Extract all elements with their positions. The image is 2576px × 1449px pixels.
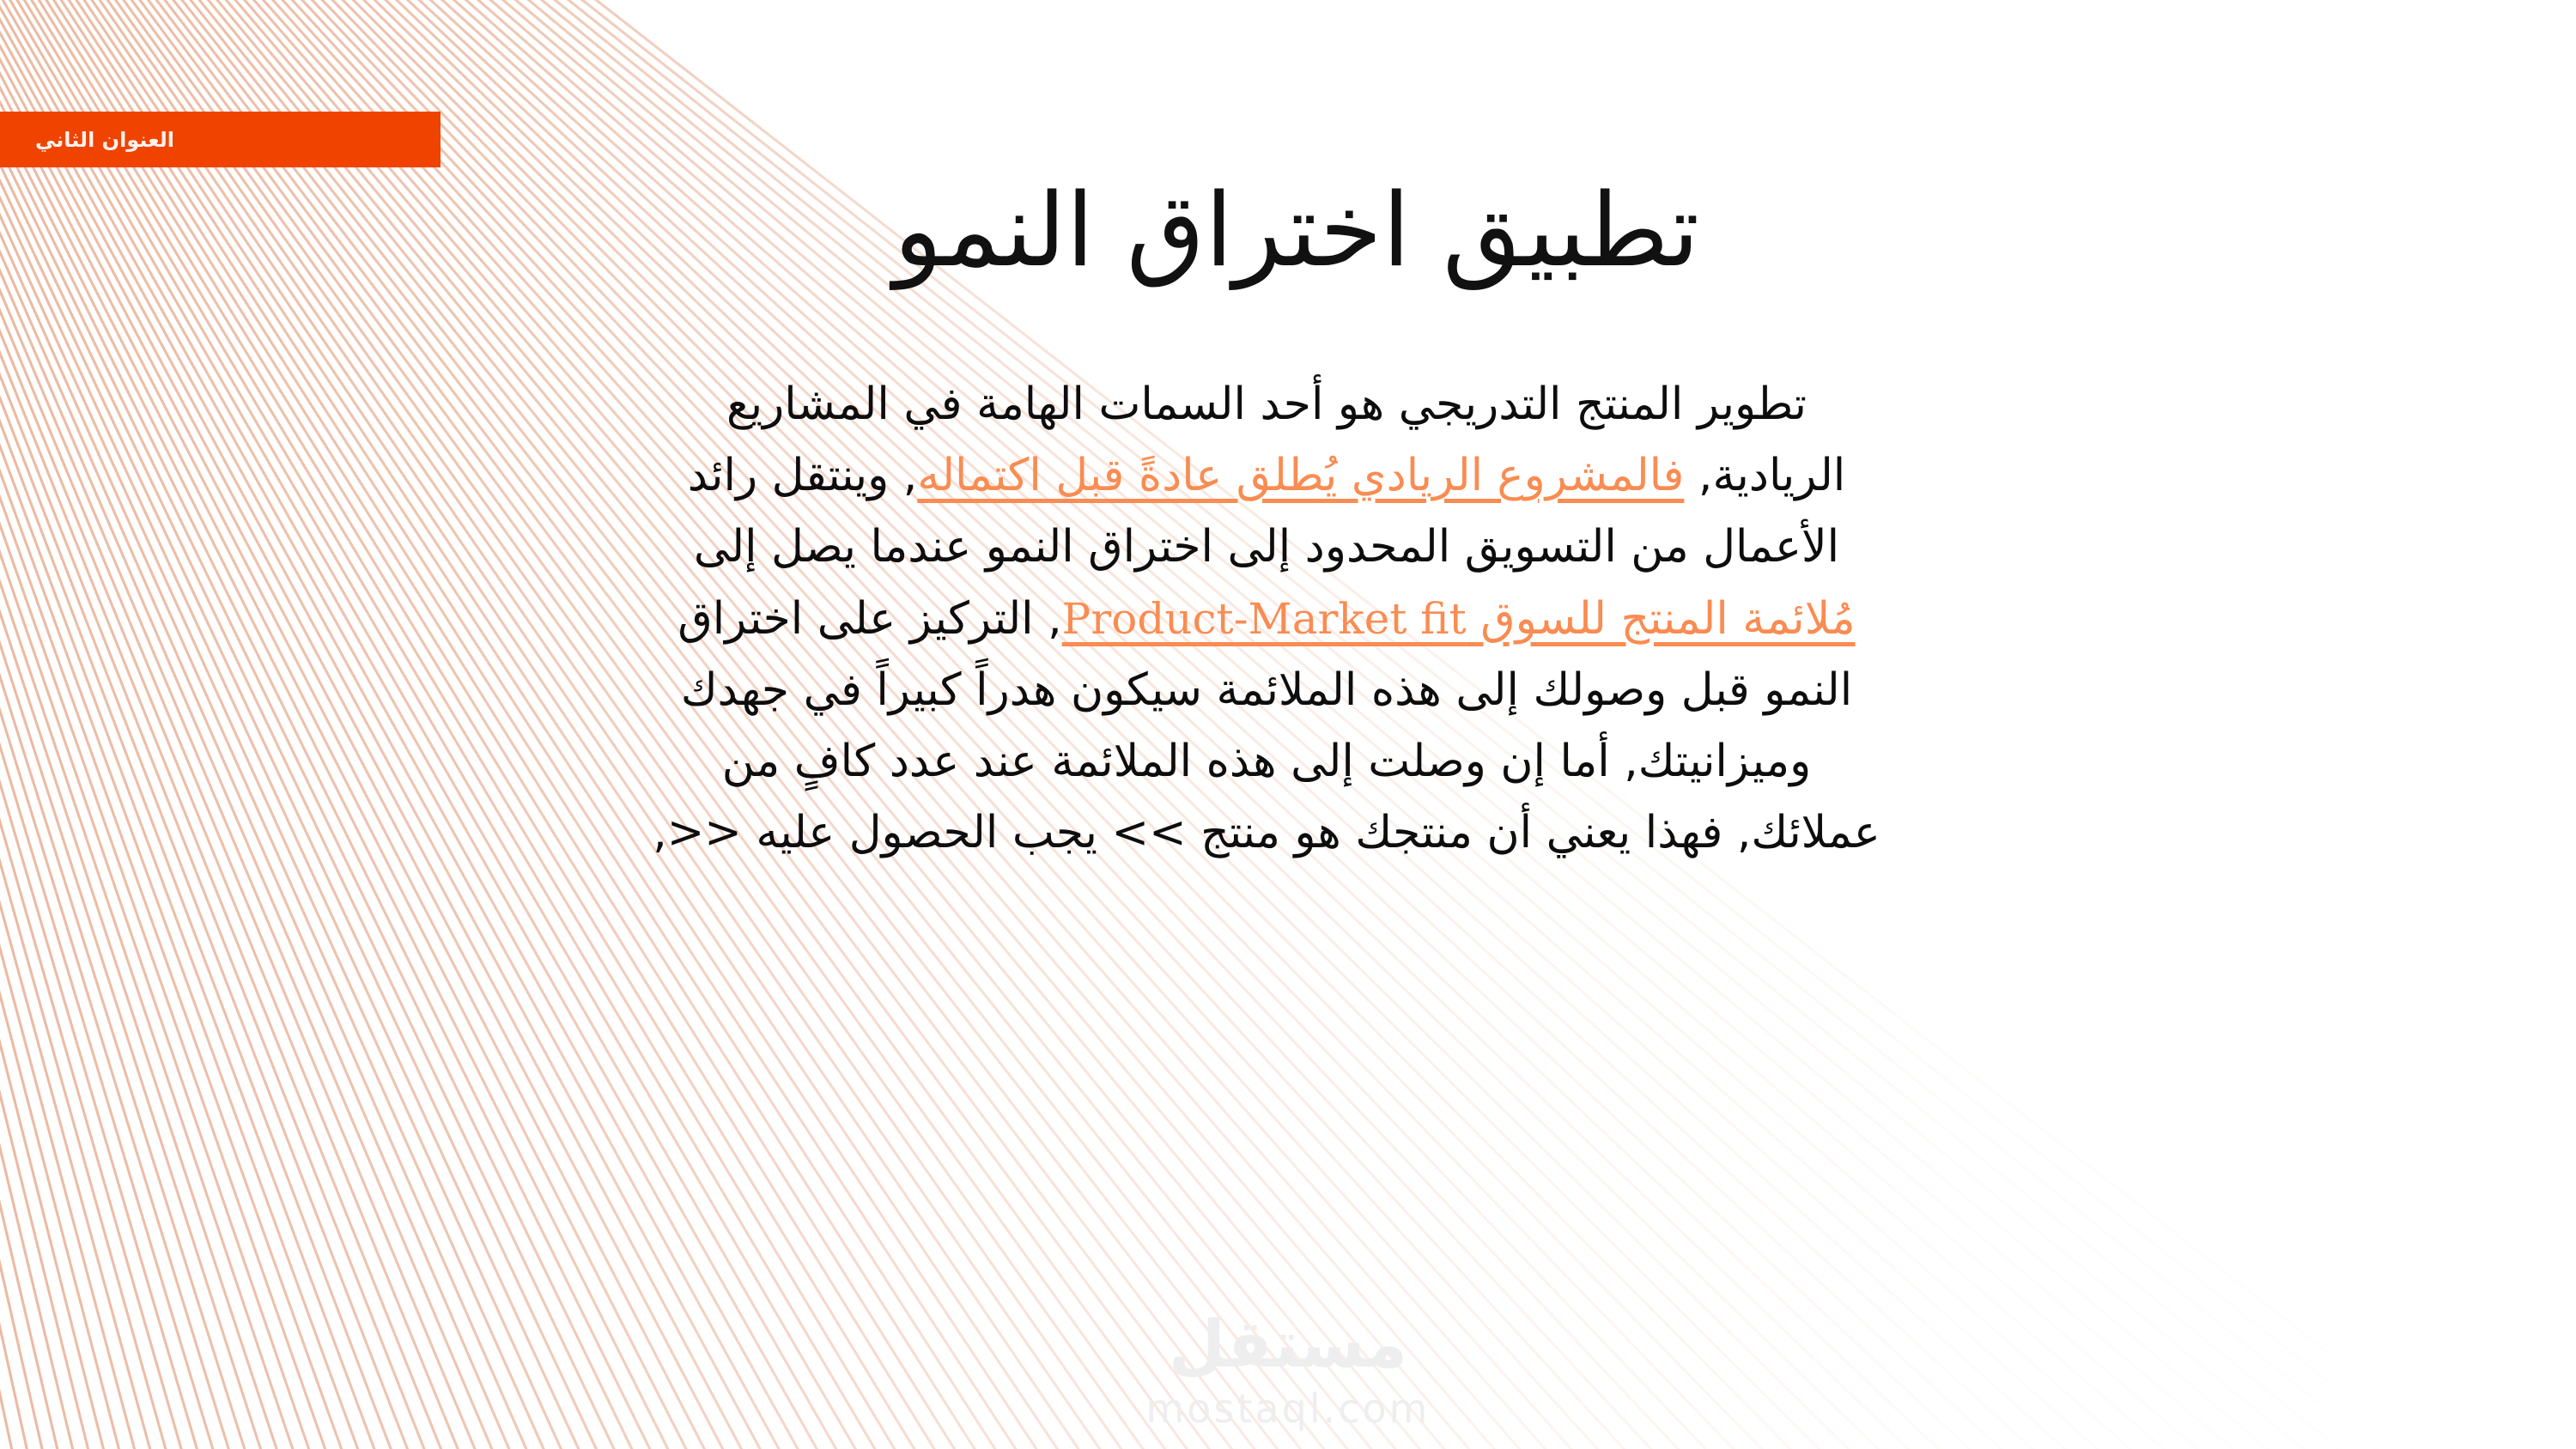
line4-text-after: , التركيز على اختراق	[677, 593, 1061, 645]
watermark-domain: mostaql.com	[1146, 1389, 1431, 1428]
hyperlink-label-arabic: مُلائمة المنتج للسوق	[1467, 593, 1856, 645]
line2-text-before: الريادية,	[1684, 450, 1845, 501]
presentation-slide: العنوان الثاني تطبيق اختراق النمو تطوير …	[0, 0, 2576, 1449]
paragraph-line-3: الأعمال من التسويق المحدود إلى اختراق ال…	[438, 512, 2095, 583]
line2-text-after: , وينتقل رائد	[688, 450, 918, 501]
paragraph-line-7: عملائك, فهذا يعني أن منتجك هو منتج >> يج…	[438, 797, 2095, 869]
page-title: تطبيق اختراق النمو	[386, 169, 2207, 293]
paragraph-line-4: مُلائمة المنتج للسوق Product-Market fit,…	[438, 584, 2095, 655]
paragraph-line-1: تطوير المنتج التدريجي هو أحد السمات الها…	[438, 369, 2095, 440]
mostaql-watermark: مستقل mostaql.com	[0, 1312, 2576, 1428]
watermark-arabic-wordmark: مستقل	[1169, 1312, 1407, 1377]
hyperlink-startup-launch[interactable]: فالمشروع الريادي يُطلق عادةً قبل اكتماله	[917, 450, 1684, 501]
paragraph-line-5: النمو قبل وصولك إلى هذه الملائمة سيكون ه…	[438, 655, 2095, 726]
paragraph-line-2: الريادية, فالمشروع الريادي يُطلق عادةً ق…	[438, 440, 2095, 512]
section-badge-label: العنوان الثاني	[35, 130, 174, 150]
hyperlink-product-market-fit[interactable]: مُلائمة المنتج للسوق Product-Market fit	[1062, 593, 1856, 645]
body-paragraph: تطوير المنتج التدريجي هو أحد السمات الها…	[438, 369, 2095, 869]
paragraph-line-6: وميزانيتك, أما إن وصلت إلى هذه الملائمة …	[438, 726, 2095, 797]
hyperlink-label-latin: Product-Market fit	[1062, 594, 1467, 644]
section-badge: العنوان الثاني	[0, 112, 440, 167]
